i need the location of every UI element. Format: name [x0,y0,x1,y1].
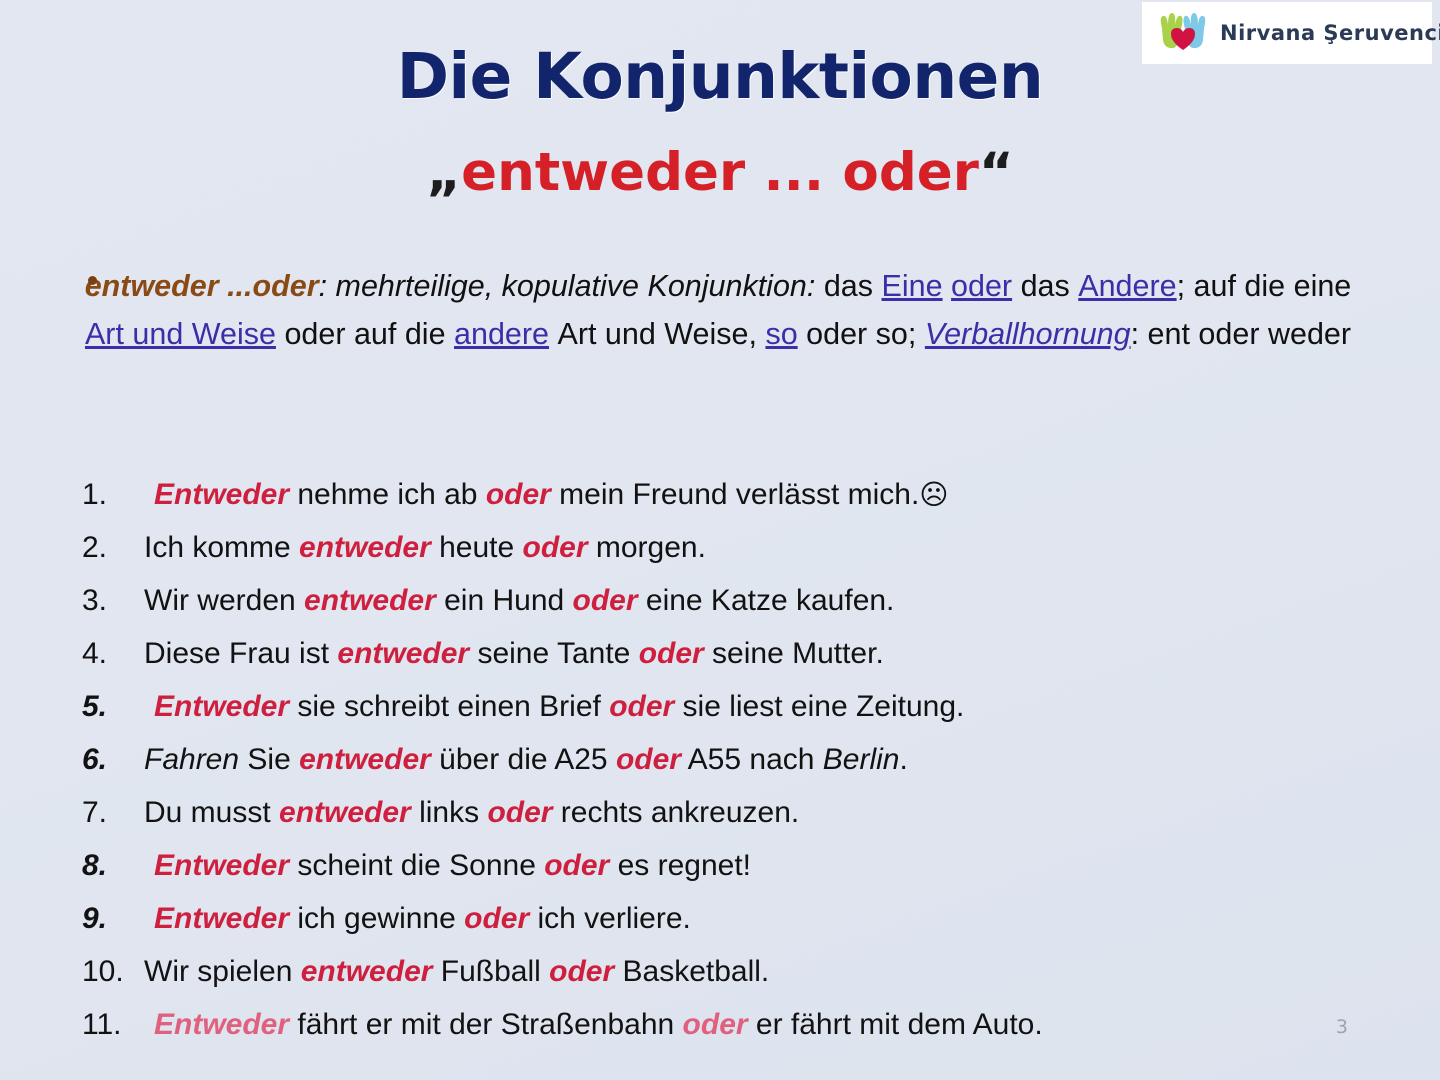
text-fragment: ich verliere. [529,902,691,935]
examples-list: 1.Entweder nehme ich ab oder mein Freund… [82,468,1372,1051]
list-item: 6.Fahren Sie entweder über die A25 oder … [82,733,1372,786]
text-fragment: fährt er mit der Straßenbahn [289,1008,683,1041]
definition-seg6: Art und Weise, [557,317,756,351]
highlight-conjunction: Entweder [154,1008,289,1041]
text-fragment: sie schreibt einen Brief [289,690,609,723]
highlight-conjunction: oder [544,849,609,882]
list-item-number: 8. [82,839,144,892]
text-fragment: ein Hund [436,584,573,617]
definition-link-oder[interactable]: oder [951,269,1012,303]
text-fragment: rechts ankreuzen. [552,796,799,829]
list-item: 2.Ich komme entweder heute oder morgen. [82,521,1372,574]
highlight-conjunction: oder [486,478,551,511]
page-number: 3 [1336,1016,1348,1038]
definition-link-andere-cap[interactable]: Andere [1078,269,1176,303]
highlight-conjunction: entweder [337,637,469,670]
list-item-text: Entweder nehme ich ab oder mein Freund v… [144,468,1372,521]
text-fragment: er fährt mit dem Auto. [748,1008,1043,1041]
highlight-conjunction: oder [523,531,588,564]
highlight-conjunction: oder [609,690,674,723]
definition-seg2: das [824,269,873,303]
highlight-conjunction: Entweder [154,690,289,723]
list-item: 3.Wir werden entweder ein Hund oder eine… [82,574,1372,627]
list-item: 8.Entweder scheint die Sonne oder es reg… [82,839,1372,892]
text-fragment: Wir werden [144,584,304,617]
definition-link-so[interactable]: so [765,317,797,351]
text-fragment: Berlin [823,743,900,776]
list-item: 5.Entweder sie schreibt einen Brief oder… [82,680,1372,733]
list-item: 7.Du musst entweder links oder rechts an… [82,786,1372,839]
text-fragment: sie liest eine Zeitung. [674,690,964,723]
list-item: 9.Entweder ich gewinne oder ich verliere… [82,892,1372,945]
definition-link-eine[interactable]: Eine [882,269,943,303]
definition-seg8: : ent oder weder [1131,317,1351,351]
definition-keyword: entweder ...oder [85,269,319,303]
list-item-number: 11. [82,998,144,1051]
highlight-conjunction: oder [616,743,681,776]
text-fragment: es regnet! [609,849,751,882]
list-item-number: 10. [82,945,144,998]
text-fragment: Fahren [144,743,239,776]
highlight-conjunction: oder [549,955,614,988]
highlight-conjunction: entweder [279,796,411,829]
slide: Nirvana Şeruvenci Die Konjunktionen „ent… [0,0,1440,1080]
highlight-conjunction: entweder [304,584,436,617]
text-fragment: Sie [239,743,299,776]
highlight-conjunction: Entweder [154,849,289,882]
list-item-number: 1. [82,468,144,521]
highlight-conjunction: entweder [299,531,431,564]
definition-bullet: entweder ...oder: mehrteilige, kopulativ… [84,262,1352,358]
list-item: 4.Diese Frau ist entweder seine Tante od… [82,627,1372,680]
highlight-conjunction: Entweder [154,478,289,511]
definition-seg7: oder so; [806,317,916,351]
text-fragment: über die A25 [431,743,616,776]
list-item-text: Entweder ich gewinne oder ich verliere. [144,892,1372,945]
text-fragment: seine Mutter. [704,637,884,670]
close-quote: “ [979,142,1014,203]
list-item-number: 7. [82,786,144,839]
list-item-text: Entweder sie schreibt einen Brief oder s… [144,680,1372,733]
text-fragment: eine Katze kaufen. [638,584,895,617]
text-fragment: mein Freund verlässt mich. [551,478,919,511]
list-item: 11.Entweder fährt er mit der Straßenbahn… [82,998,1372,1051]
text-fragment: heute [431,531,523,564]
list-item: 1.Entweder nehme ich ab oder mein Freund… [82,468,1372,521]
list-item-text: Fahren Sie entweder über die A25 oder A5… [144,733,1372,786]
highlight-conjunction: entweder [299,743,431,776]
text-fragment: scheint die Sonne [289,849,544,882]
text-fragment: Basketball. [614,955,769,988]
highlight-conjunction: oder [639,637,704,670]
list-item-text: Wir werden entweder ein Hund oder eine K… [144,574,1372,627]
list-item: 10.Wir spielen entweder Fußball oder Bas… [82,945,1372,998]
list-item-text: Entweder scheint die Sonne oder es regne… [144,839,1372,892]
list-item-number: 2. [82,521,144,574]
text-fragment: links [411,796,488,829]
definition-link-verballhornung[interactable]: Verballhornung [925,317,1131,351]
text-fragment: A55 nach [681,743,823,776]
subtitle-text: entweder ... oder [461,142,979,203]
text-fragment: . [899,743,907,776]
highlight-conjunction: oder [487,796,552,829]
highlight-conjunction: oder [683,1008,748,1041]
definition-link-art-und-weise[interactable]: Art und Weise [85,317,276,351]
definition-seg5: oder auf die [284,317,445,351]
list-item-text: Du musst entweder links oder rechts ankr… [144,786,1372,839]
definition-link-andere[interactable]: andere [454,317,549,351]
list-item-number: 4. [82,627,144,680]
text-fragment: Fußball [432,955,549,988]
list-item-text: Diese Frau ist entweder seine Tante oder… [144,627,1372,680]
list-item-text: Wir spielen entweder Fußball oder Basket… [144,945,1372,998]
list-item-number: 9. [82,892,144,945]
text-fragment: morgen. [588,531,706,564]
definition-seg3: das [1021,269,1070,303]
highlight-conjunction: oder [464,902,529,935]
text-fragment: nehme ich ab [289,478,486,511]
slide-subtitle: „entweder ... oder“ [0,142,1440,203]
highlight-conjunction: oder [573,584,638,617]
list-item-number: 3. [82,574,144,627]
text-fragment: seine Tante [469,637,639,670]
text-fragment: Du musst [144,796,279,829]
slide-title: Die Konjunktionen [0,40,1440,113]
list-item-number: 6. [82,733,144,786]
definition-seg1: : mehrteilige, kopulative Konjunktion: [319,269,816,303]
list-item-number: 5. [82,680,144,733]
text-fragment: ich gewinne [289,902,464,935]
highlight-conjunction: entweder [301,955,433,988]
definition-seg4: ; auf die eine [1177,269,1352,303]
text-fragment: Wir spielen [144,955,301,988]
sad-face-icon: ☹ [919,478,948,511]
text-fragment: Diese Frau ist [144,637,337,670]
open-quote: „ [426,142,461,203]
highlight-conjunction: Entweder [154,902,289,935]
list-item-text: Ich komme entweder heute oder morgen. [144,521,1372,574]
text-fragment: Ich komme [144,531,299,564]
list-item-text: Entweder fährt er mit der Straßenbahn od… [144,998,1372,1051]
bullet-dot-icon [88,276,97,285]
